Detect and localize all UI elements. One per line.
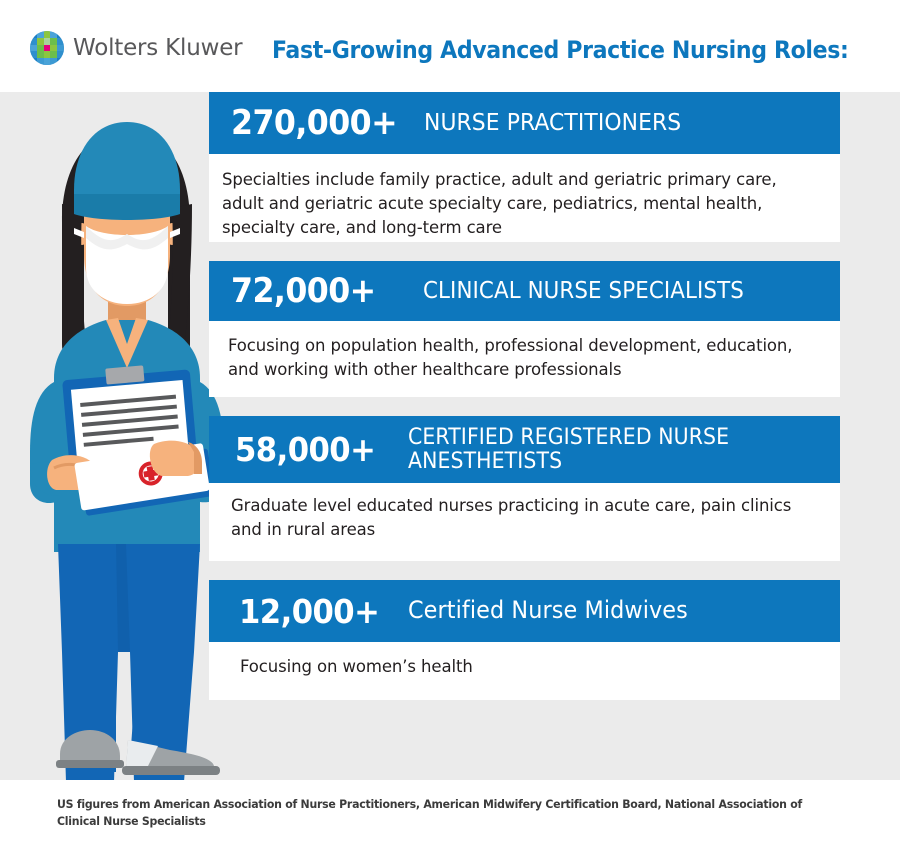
role-card-body: Focusing on population health, professio… — [209, 321, 840, 397]
source-note: US figures from American Association of … — [57, 796, 808, 829]
role-count: 58,000+ — [235, 433, 375, 466]
page-header: ® Wolters Kluwer Fast-Growing Advanced P… — [0, 0, 900, 92]
role-count: 72,000+ — [231, 274, 376, 308]
wolters-kluwer-globe-icon: ® — [30, 31, 64, 65]
role-title: CLINICAL NURSE SPECIALISTS — [423, 279, 744, 304]
role-card-header: 270,000+ NURSE PRACTITIONERS — [209, 92, 840, 154]
role-card-certified-nurse-midwives: 12,000+ Certified Nurse Midwives Focusin… — [209, 580, 840, 700]
page-title: Fast-Growing Advanced Practice Nursing R… — [272, 36, 848, 64]
role-card-body: Specialties include family practice, adu… — [209, 154, 840, 242]
role-description: Graduate level educated nurses practicin… — [231, 494, 818, 542]
role-title: Certified Nurse Midwives — [408, 598, 688, 624]
role-card-certified-registered-nurse-anesthetists: 58,000+ CERTIFIED REGISTERED NURSE ANEST… — [209, 416, 840, 561]
page-footer: US figures from American Association of … — [0, 780, 900, 853]
main-panel: 270,000+ NURSE PRACTITIONERS Specialties… — [0, 92, 900, 780]
roles-list: 270,000+ NURSE PRACTITIONERS Specialties… — [209, 92, 840, 719]
role-card-header: 58,000+ CERTIFIED REGISTERED NURSE ANEST… — [209, 416, 840, 483]
role-description: Focusing on population health, professio… — [228, 334, 818, 382]
role-card-header: 72,000+ CLINICAL NURSE SPECIALISTS — [209, 261, 840, 321]
role-card-body: Focusing on women’s health — [209, 642, 840, 700]
role-card-nurse-practitioners: 270,000+ NURSE PRACTITIONERS Specialties… — [209, 92, 840, 242]
role-description: Specialties include family practice, adu… — [222, 168, 818, 240]
role-description: Focusing on women’s health — [240, 655, 818, 679]
role-count: 12,000+ — [239, 595, 379, 628]
role-card-header: 12,000+ Certified Nurse Midwives — [209, 580, 840, 642]
trademark-symbol: ® — [61, 58, 64, 64]
role-card-clinical-nurse-specialists: 72,000+ CLINICAL NURSE SPECIALISTS Focus… — [209, 261, 840, 397]
role-title: CERTIFIED REGISTERED NURSE ANESTHETISTS — [408, 426, 789, 474]
brand-logo[interactable]: ® Wolters Kluwer — [30, 31, 242, 65]
role-card-body: Graduate level educated nurses practicin… — [209, 483, 840, 561]
brand-name: Wolters Kluwer — [73, 35, 242, 61]
role-title: NURSE PRACTITIONERS — [424, 110, 681, 135]
role-count: 270,000+ — [231, 106, 397, 140]
